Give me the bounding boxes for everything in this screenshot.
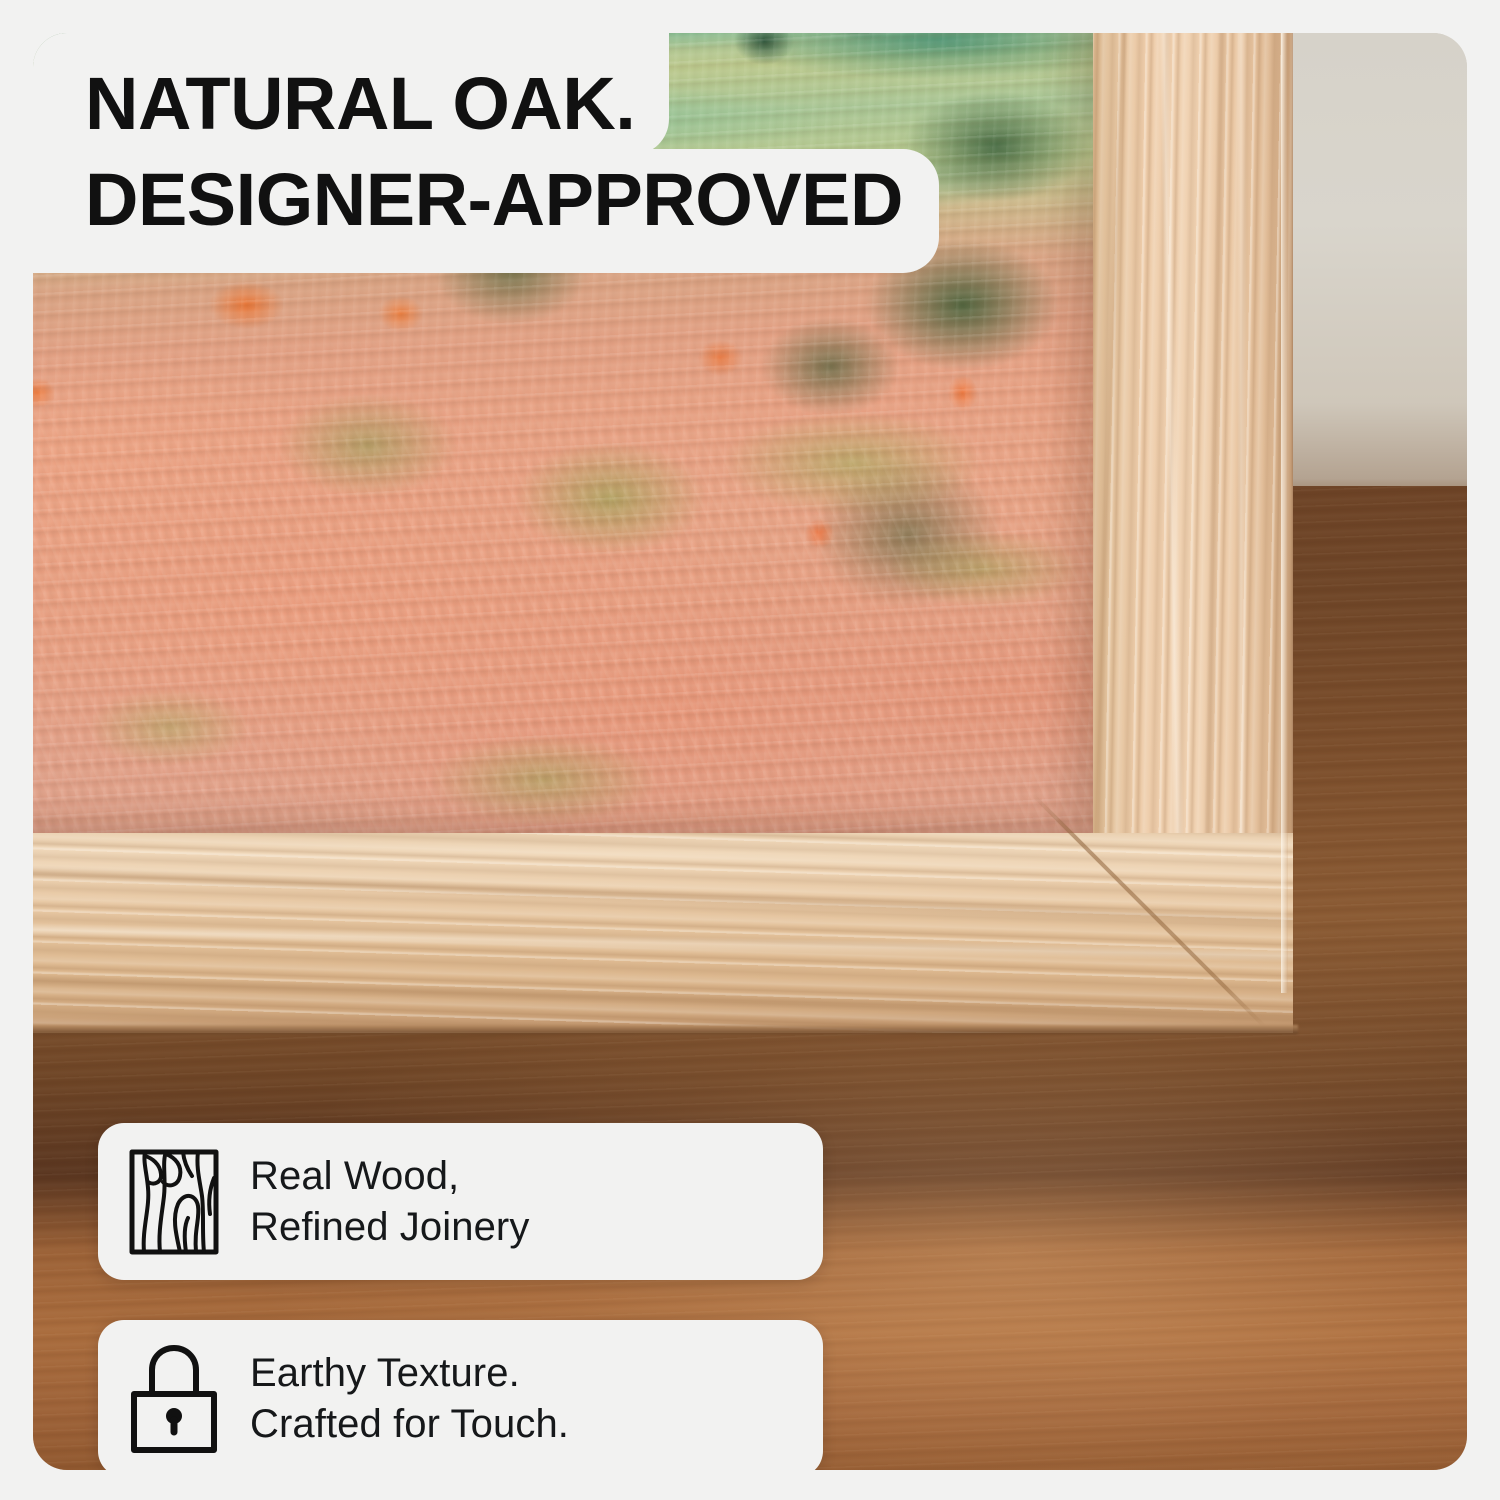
wood-grain-icon	[98, 1148, 250, 1256]
frame-bottom-edge-shadow	[33, 1025, 1298, 1034]
feature-badge-list: Real Wood, Refined Joinery Earthy Textur…	[98, 1123, 823, 1470]
frame-outer-edge-highlight	[1281, 33, 1288, 993]
product-photo: NATURAL OAK. DESIGNER-APPROVED	[33, 33, 1467, 1470]
lock-icon	[98, 1344, 250, 1454]
headline-line-1: NATURAL OAK.	[33, 33, 669, 155]
feature-badge-real-wood[interactable]: Real Wood, Refined Joinery	[98, 1123, 823, 1280]
headline-line-2: DESIGNER-APPROVED	[33, 149, 939, 273]
headline: NATURAL OAK. DESIGNER-APPROVED	[33, 33, 939, 273]
feature-badge-earthy-texture[interactable]: Earthy Texture. Crafted for Touch.	[98, 1320, 823, 1470]
feature-badge-label: Earthy Texture. Crafted for Touch.	[250, 1348, 569, 1450]
product-image-canvas: NATURAL OAK. DESIGNER-APPROVED	[0, 0, 1500, 1500]
feature-badge-label: Real Wood, Refined Joinery	[250, 1151, 529, 1253]
